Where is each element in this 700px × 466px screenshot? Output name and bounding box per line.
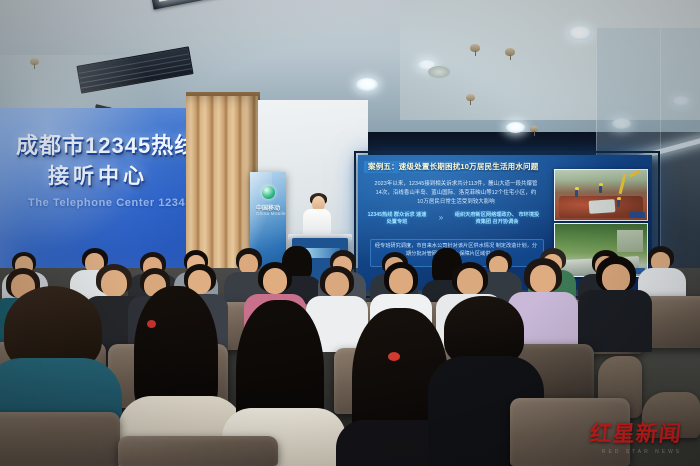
construction-site-photo: [554, 169, 648, 221]
wall-sign-line1: 成都市12345热线: [16, 128, 197, 160]
conference-room-photo: 成都市12345热线 接听中心 The Telephone Center 123…: [0, 0, 700, 466]
china-mobile-logo: [262, 186, 275, 199]
downlight-1: [568, 26, 592, 40]
downlight-2: [356, 78, 378, 91]
sprinkler-3: [505, 48, 515, 56]
slide-title: 案例五：速级处置长期困扰10万居民生活用水问题: [368, 161, 538, 172]
slide-flow-right: 组织天府新区网络理政办、 市环境投资集团 召开协调会: [454, 212, 540, 226]
hair-clip: [147, 320, 156, 328]
sprinkler-5: [530, 126, 538, 132]
slide-flow-left: 12345热线 群众诉求 速速处置专班: [366, 212, 428, 226]
watermark: 红星新闻 RED STAR NEWS: [590, 416, 694, 450]
seat-row1-1: [0, 412, 120, 466]
china-mobile-label-en: China Mobile: [256, 211, 286, 216]
seat-row1-2: [118, 436, 278, 466]
photo-tag-1: [629, 212, 645, 218]
downlight-4: [506, 122, 525, 133]
watermark-text: 红星新闻: [588, 416, 695, 448]
downlight-8: [428, 66, 450, 78]
slide-flow-arrow-icon: »: [434, 215, 448, 225]
sprinkler-4: [466, 94, 475, 101]
sprinkler-2: [470, 44, 480, 52]
hair-tie: [388, 352, 400, 361]
watermark-subtext: RED STAR NEWS: [590, 449, 694, 455]
wall-sign-line2: 接听中心: [48, 160, 148, 190]
slide-body-text: 2023年以来，12345接到相关诉求共计113件，麓山大道一段共爆管14次，沿…: [374, 180, 538, 207]
